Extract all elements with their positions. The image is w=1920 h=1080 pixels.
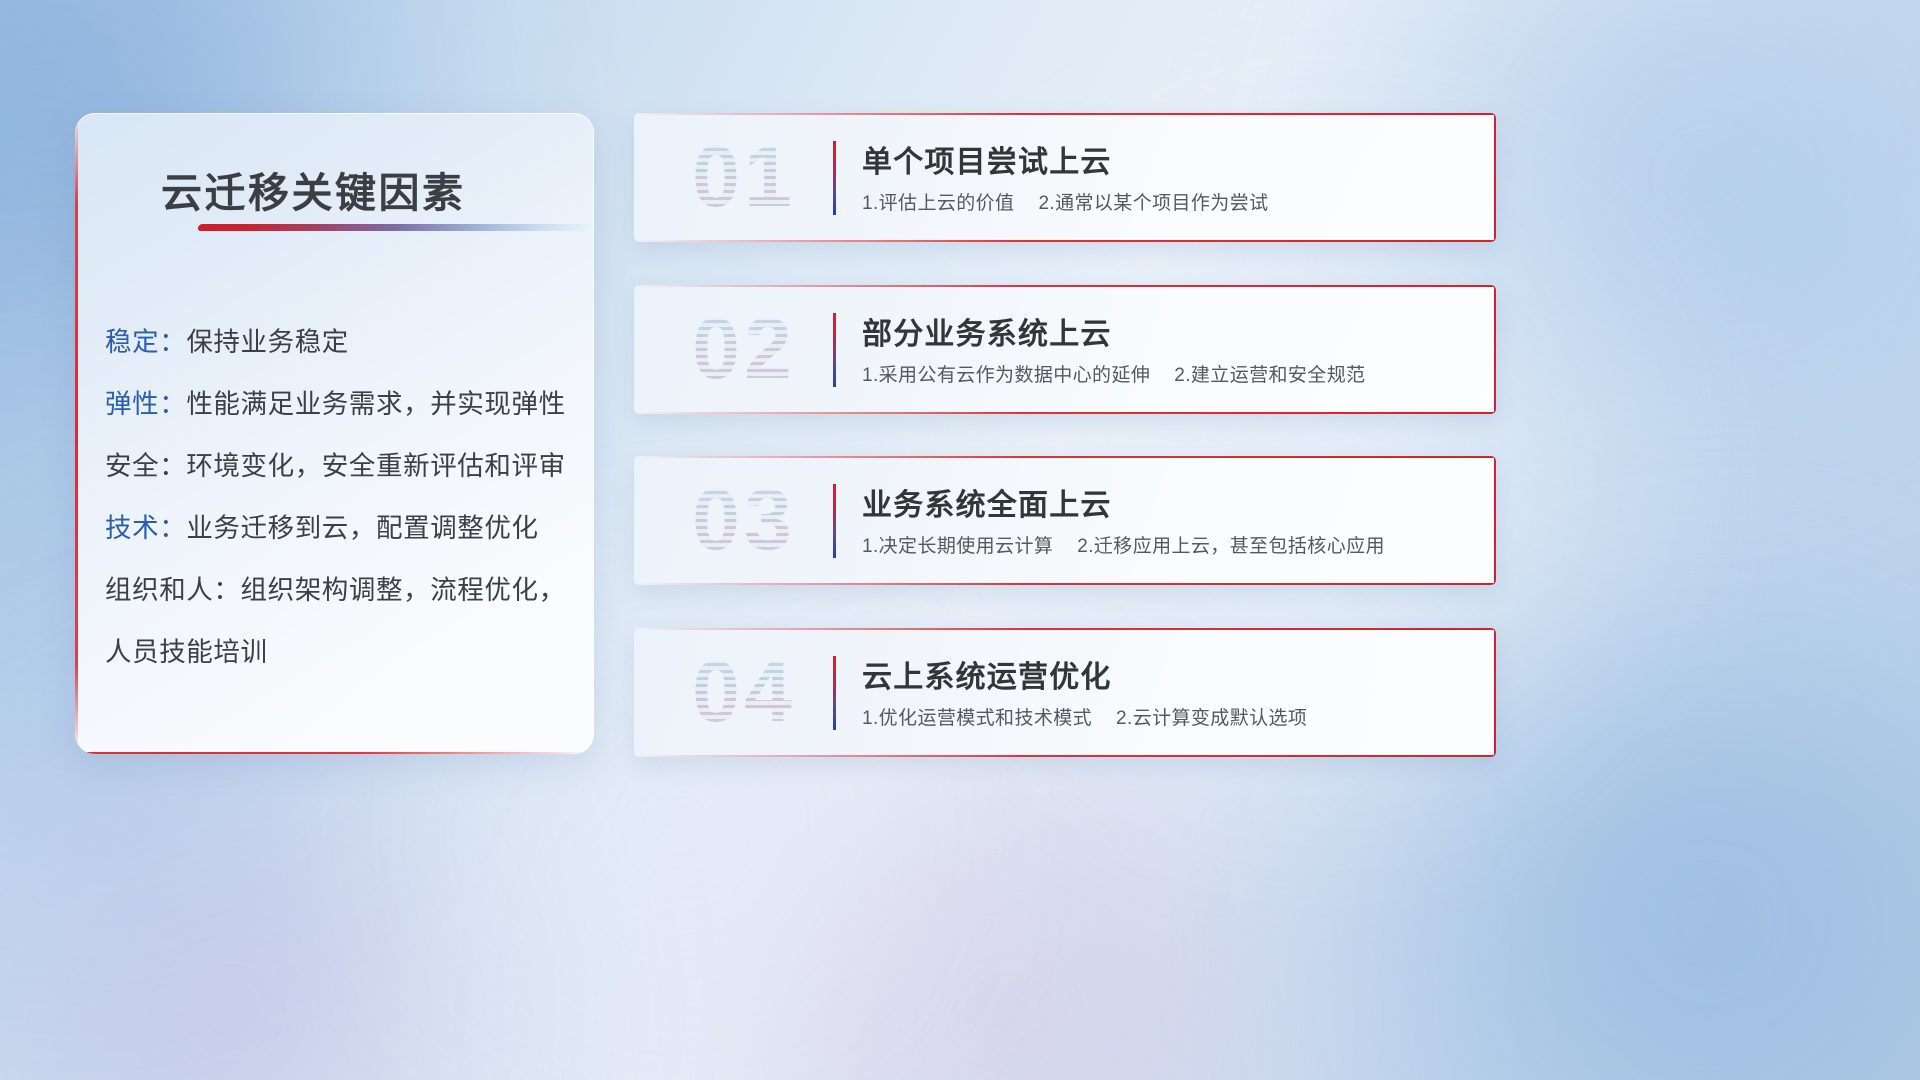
list-item: 稳定：保持业务稳定 — [105, 311, 580, 373]
list-item: 技术：业务迁移到云，配置调整优化 — [105, 497, 580, 559]
stage-point-1: 1.采用公有云作为数据中心的延伸 — [862, 365, 1150, 386]
stage-points: 1.决定长期使用云计算2.迁移应用上云，甚至包括核心应用 — [862, 531, 1385, 558]
stage-point-1: 1.优化运营模式和技术模式 — [862, 708, 1092, 729]
key-factors-panel: 云迁移关键因素 稳定：保持业务稳定 弹性：性能满足业务需求，并实现弹性 安全：环… — [75, 113, 594, 754]
factor-text: 组织架构调整，流程优化， — [241, 575, 566, 605]
factor-label: 组织和人： — [105, 575, 241, 605]
stage-point-1: 1.决定长期使用云计算 — [862, 536, 1053, 557]
stage-card[interactable]: 02 部分业务系统上云 1.采用公有云作为数据中心的延伸2.建立运营和安全规范 — [634, 285, 1496, 414]
stage-card[interactable]: 03 业务系统全面上云 1.决定长期使用云计算2.迁移应用上云，甚至包括核心应用 — [634, 456, 1496, 585]
stage-card[interactable]: 01 单个项目尝试上云 1.评估上云的价值2.通常以某个项目作为尝试 — [634, 113, 1496, 242]
card-divider-accent — [833, 484, 836, 558]
list-item: 安全：环境变化，安全重新评估和评审 — [105, 435, 580, 497]
factor-text: 性能满足业务需求，并实现弹性 — [186, 389, 565, 419]
factor-list: 稳定：保持业务稳定 弹性：性能满足业务需求，并实现弹性 安全：环境变化，安全重新… — [105, 311, 580, 683]
card-right-accent — [1494, 456, 1496, 585]
factor-text: 保持业务稳定 — [186, 327, 349, 357]
factor-text: 业务迁移到云，配置调整优化 — [186, 513, 538, 543]
stage-number: 03 — [658, 470, 830, 570]
stage-points: 1.采用公有云作为数据中心的延伸2.建立运营和安全规范 — [862, 360, 1366, 387]
title-underline-accent — [197, 224, 594, 231]
card-divider-accent — [833, 313, 836, 387]
stage-number: 04 — [658, 642, 830, 742]
factor-label: 弹性： — [105, 389, 186, 419]
card-divider-accent — [833, 656, 836, 730]
card-right-accent — [1494, 628, 1496, 757]
factor-label: 稳定： — [105, 327, 186, 357]
list-item: 弹性：性能满足业务需求，并实现弹性 — [105, 373, 580, 435]
stage-number: 01 — [658, 127, 830, 227]
stage-points: 1.优化运营模式和技术模式2.云计算变成默认选项 — [862, 703, 1307, 730]
card-right-accent — [1494, 285, 1496, 414]
card-divider-accent — [833, 141, 836, 215]
stage-points: 1.评估上云的价值2.通常以某个项目作为尝试 — [862, 188, 1269, 215]
stage-title: 云上系统运营优化 — [862, 652, 1112, 696]
stage-point-2: 2.迁移应用上云，甚至包括核心应用 — [1077, 536, 1385, 557]
list-item: 人员技能培训 — [105, 621, 580, 683]
stage-point-2: 2.云计算变成默认选项 — [1116, 708, 1307, 729]
factor-text: 人员技能培训 — [105, 637, 268, 667]
stage-card[interactable]: 04 云上系统运营优化 1.优化运营模式和技术模式2.云计算变成默认选项 — [634, 628, 1496, 757]
stage-point-2: 2.通常以某个项目作为尝试 — [1038, 193, 1268, 214]
page-title: 云迁移关键因素 — [161, 159, 466, 219]
stage-title: 业务系统全面上云 — [862, 480, 1112, 524]
stage-number: 02 — [658, 299, 830, 399]
stage-point-2: 2.建立运营和安全规范 — [1174, 365, 1365, 386]
factor-text: 环境变化，安全重新评估和评审 — [186, 451, 565, 481]
card-right-accent — [1494, 113, 1496, 242]
list-item: 组织和人：组织架构调整，流程优化， — [105, 559, 580, 621]
stage-title: 单个项目尝试上云 — [862, 137, 1112, 181]
factor-label: 技术： — [105, 513, 186, 543]
stage-title: 部分业务系统上云 — [862, 309, 1112, 353]
stage-point-1: 1.评估上云的价值 — [862, 193, 1014, 214]
factor-label: 安全： — [105, 451, 186, 481]
